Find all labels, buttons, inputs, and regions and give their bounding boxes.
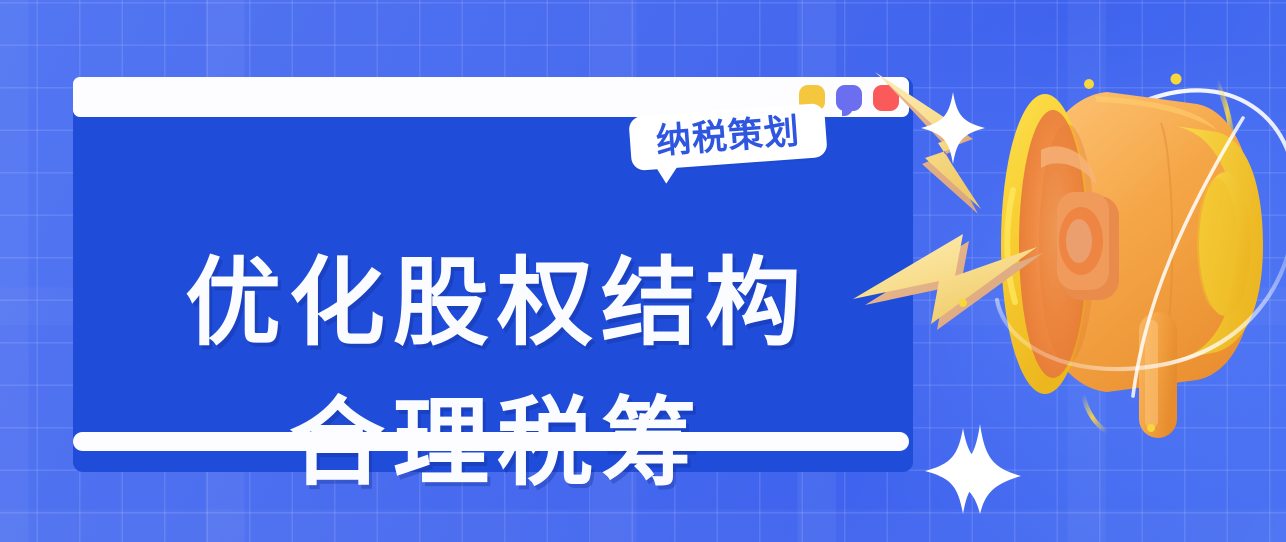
accent-dot-4	[1147, 424, 1155, 432]
tag-badge-label: 纳税策划	[655, 114, 801, 159]
promo-banner: 纳税策划 优化股权结构 合理税筹	[0, 0, 1286, 542]
headline-line-1: 优化股权结构	[73, 255, 913, 351]
card-bottom-bar	[73, 432, 909, 451]
megaphone-illustration	[845, 0, 1286, 542]
sparkle-icon-top	[921, 92, 985, 164]
accent-dot-2	[1171, 74, 1182, 85]
megaphone-body	[1001, 92, 1263, 394]
accent-dot-3	[959, 299, 967, 307]
content-card: 纳税策划 优化股权结构 合理税筹	[73, 77, 913, 472]
lightning-bolt-upper	[875, 72, 981, 214]
sparkle-icon-bottom	[925, 428, 1001, 514]
megaphone-driver	[1057, 192, 1119, 300]
accent-dot-1	[1084, 79, 1094, 89]
